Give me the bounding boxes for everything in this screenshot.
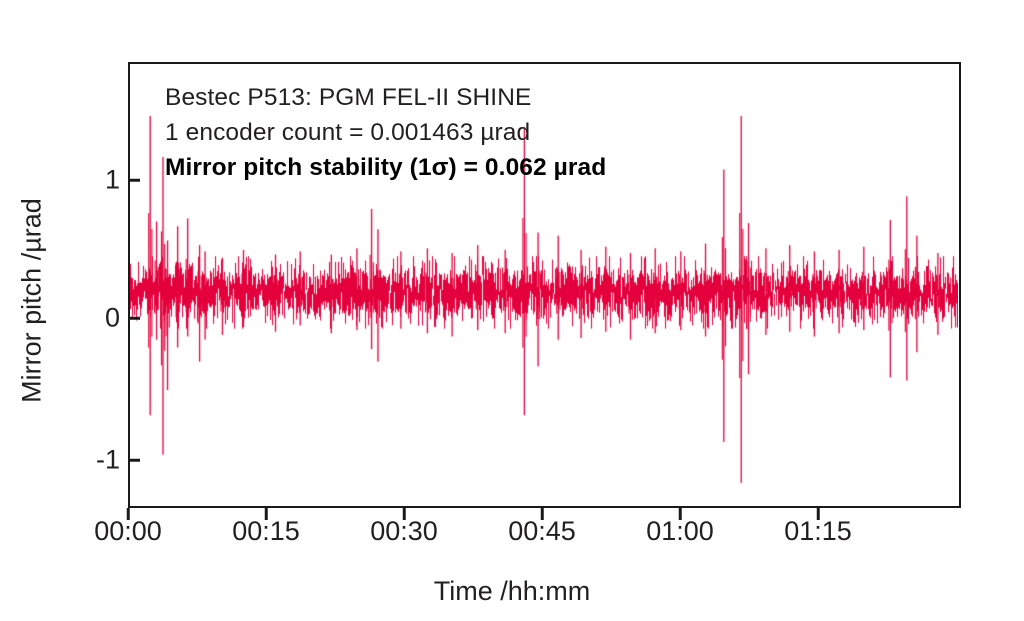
y-tick-label-1: 1 (80, 165, 120, 196)
x-tick-label-0030: 00:30 (324, 516, 484, 547)
chart-figure: Bestec P513: PGM FEL-II SHINE 1 encoder … (0, 0, 1024, 621)
y-tick-mark-minus1 (128, 459, 140, 462)
x-tick-label-0045: 00:45 (462, 516, 622, 547)
x-tick-label-0115: 01:15 (738, 516, 898, 547)
y-tick-mark-0 (128, 317, 140, 320)
y-axis-title: Mirror pitch /µrad (17, 121, 48, 481)
plot-area (128, 62, 961, 508)
y-tick-mark-1 (128, 179, 140, 182)
y-tick-label-0: 0 (80, 303, 120, 334)
x-tick-label-0015: 00:15 (186, 516, 346, 547)
x-axis-title: Time /hh:mm (0, 576, 1024, 607)
x-tick-label-0100: 01:00 (600, 516, 760, 547)
x-tick-label-0000: 00:00 (48, 516, 208, 547)
y-tick-label-minus1: -1 (80, 445, 120, 476)
mirror-pitch-trace (130, 64, 958, 505)
